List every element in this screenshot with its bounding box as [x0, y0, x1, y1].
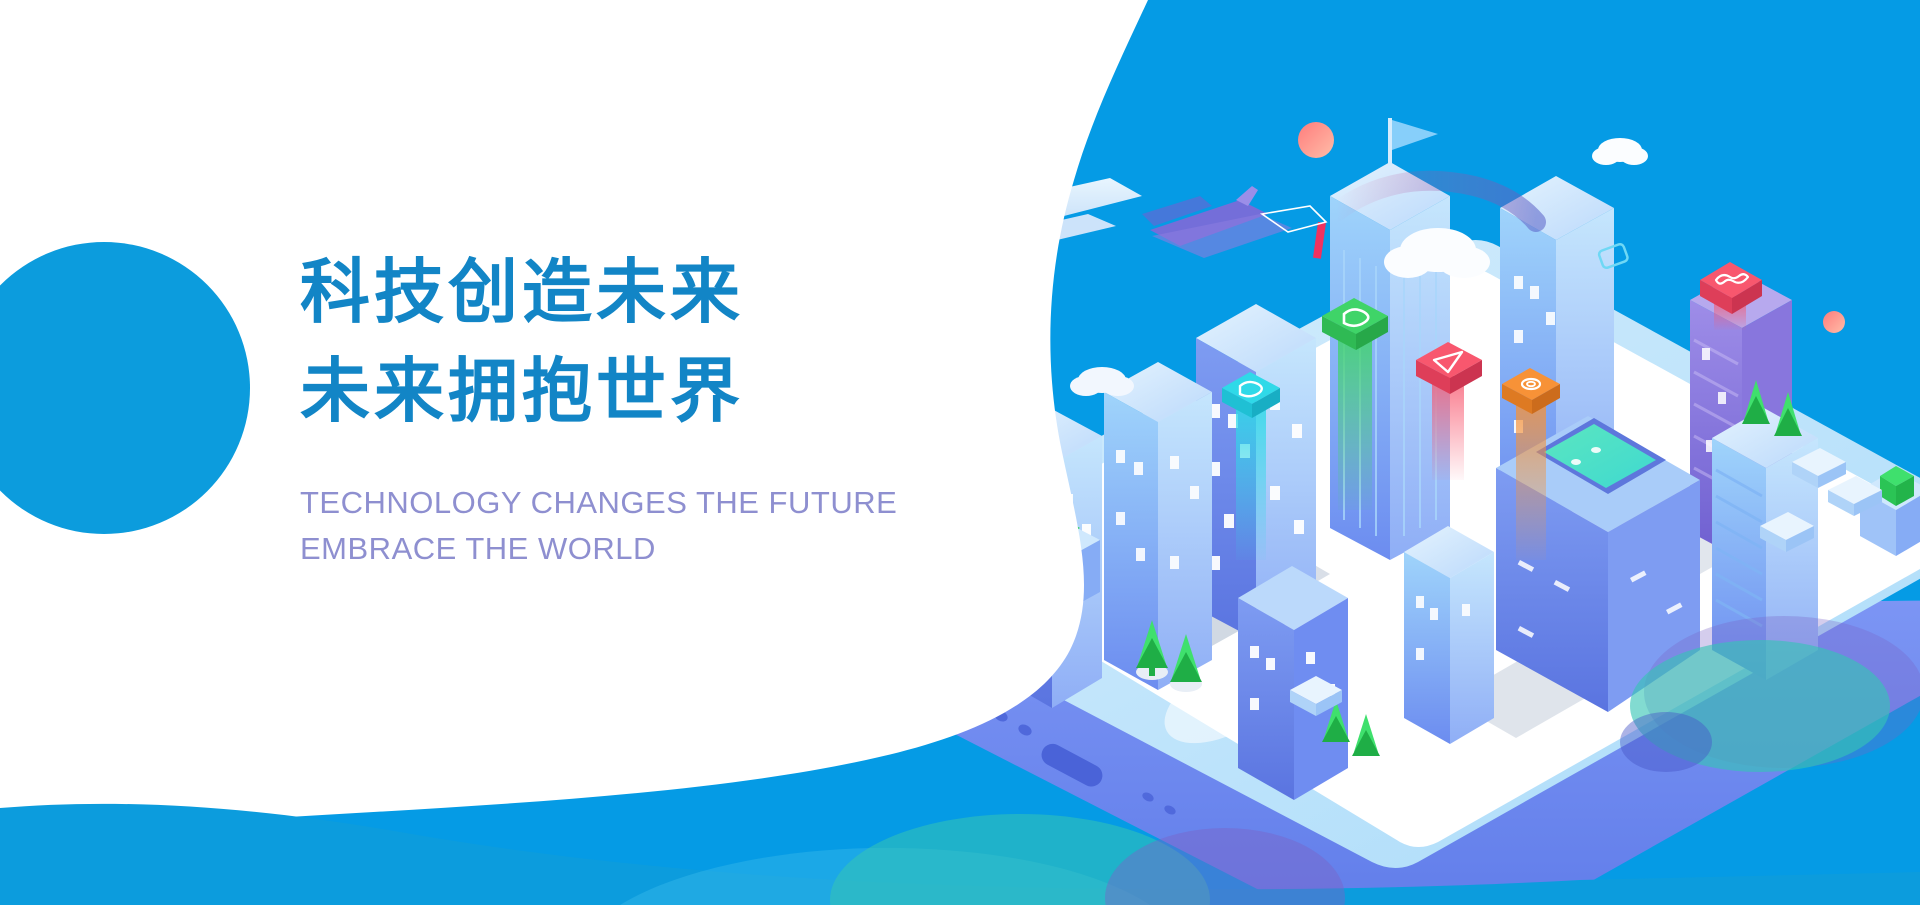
- building-front-left: [1238, 566, 1348, 800]
- orb-pink-large: [1298, 122, 1334, 158]
- orb-pink-small: [1823, 311, 1845, 333]
- page-subtitle: TECHNOLOGY CHANGES THE FUTURE EMBRACE TH…: [300, 480, 920, 572]
- building-orange-beam: [1404, 526, 1494, 744]
- hero-copy-block: 科技创造未来 未来拥抱世界 TECHNOLOGY CHANGES THE FUT…: [300, 243, 920, 572]
- headline-line-2: 未来拥抱世界: [300, 342, 920, 441]
- page-title: 科技创造未来 未来拥抱世界: [300, 243, 920, 442]
- hero-banner: 科技创造未来 未来拥抱世界 TECHNOLOGY CHANGES THE FUT…: [0, 0, 1920, 905]
- headline-line-1: 科技创造未来: [300, 243, 920, 342]
- subtitle-line-2: EMBRACE THE WORLD: [300, 526, 920, 572]
- subtitle-line-1: TECHNOLOGY CHANGES THE FUTURE: [300, 480, 920, 526]
- background-scenery: [0, 0, 1920, 905]
